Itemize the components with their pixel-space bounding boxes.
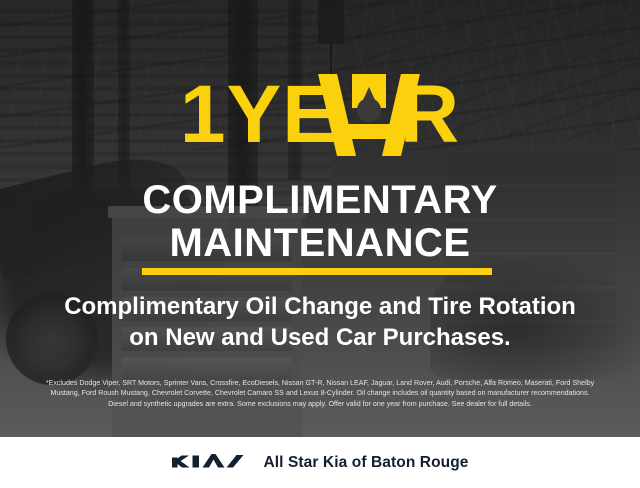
ad-content: 1 YE R COMPLIMENTARY MAINTENANCE Complim…: [0, 0, 640, 488]
tagline-line-2: on New and Used Car Purchases.: [0, 323, 640, 354]
headline-oil-drop-a: [338, 74, 400, 156]
tagline-line-1: Complimentary Oil Change and Tire Rotati…: [0, 292, 640, 323]
kia-logo: [171, 452, 247, 473]
tagline: Complimentary Oil Change and Tire Rotati…: [0, 292, 640, 353]
letter-a-crossbar: [345, 124, 393, 139]
disclaimer-text: *Excludes Dodge Viper, SRT Motors, Sprin…: [18, 378, 622, 409]
yellow-divider-rule: [142, 268, 492, 275]
headline-one-year: 1 YE R: [0, 74, 640, 156]
disclaimer-line-2: Mustang, Ford Roush Mustang, Chevrolet C…: [18, 388, 622, 398]
disclaimer-line-3: Diesel and synthetic upgrades are extra.…: [18, 399, 622, 409]
subheadline-maintenance: MAINTENANCE: [0, 223, 640, 263]
dealer-name: All Star Kia of Baton Rouge: [263, 454, 468, 472]
headline-year-pre: 1: [180, 74, 227, 156]
footer-bar: All Star Kia of Baton Rouge: [0, 437, 640, 488]
disclaimer-line-1: *Excludes Dodge Viper, SRT Motors, Sprin…: [18, 378, 622, 388]
subheadline-complimentary: COMPLIMENTARY: [0, 180, 640, 220]
advertisement-banner: 1 YE R COMPLIMENTARY MAINTENANCE Complim…: [0, 0, 640, 488]
oil-drop-icon: [357, 98, 381, 122]
